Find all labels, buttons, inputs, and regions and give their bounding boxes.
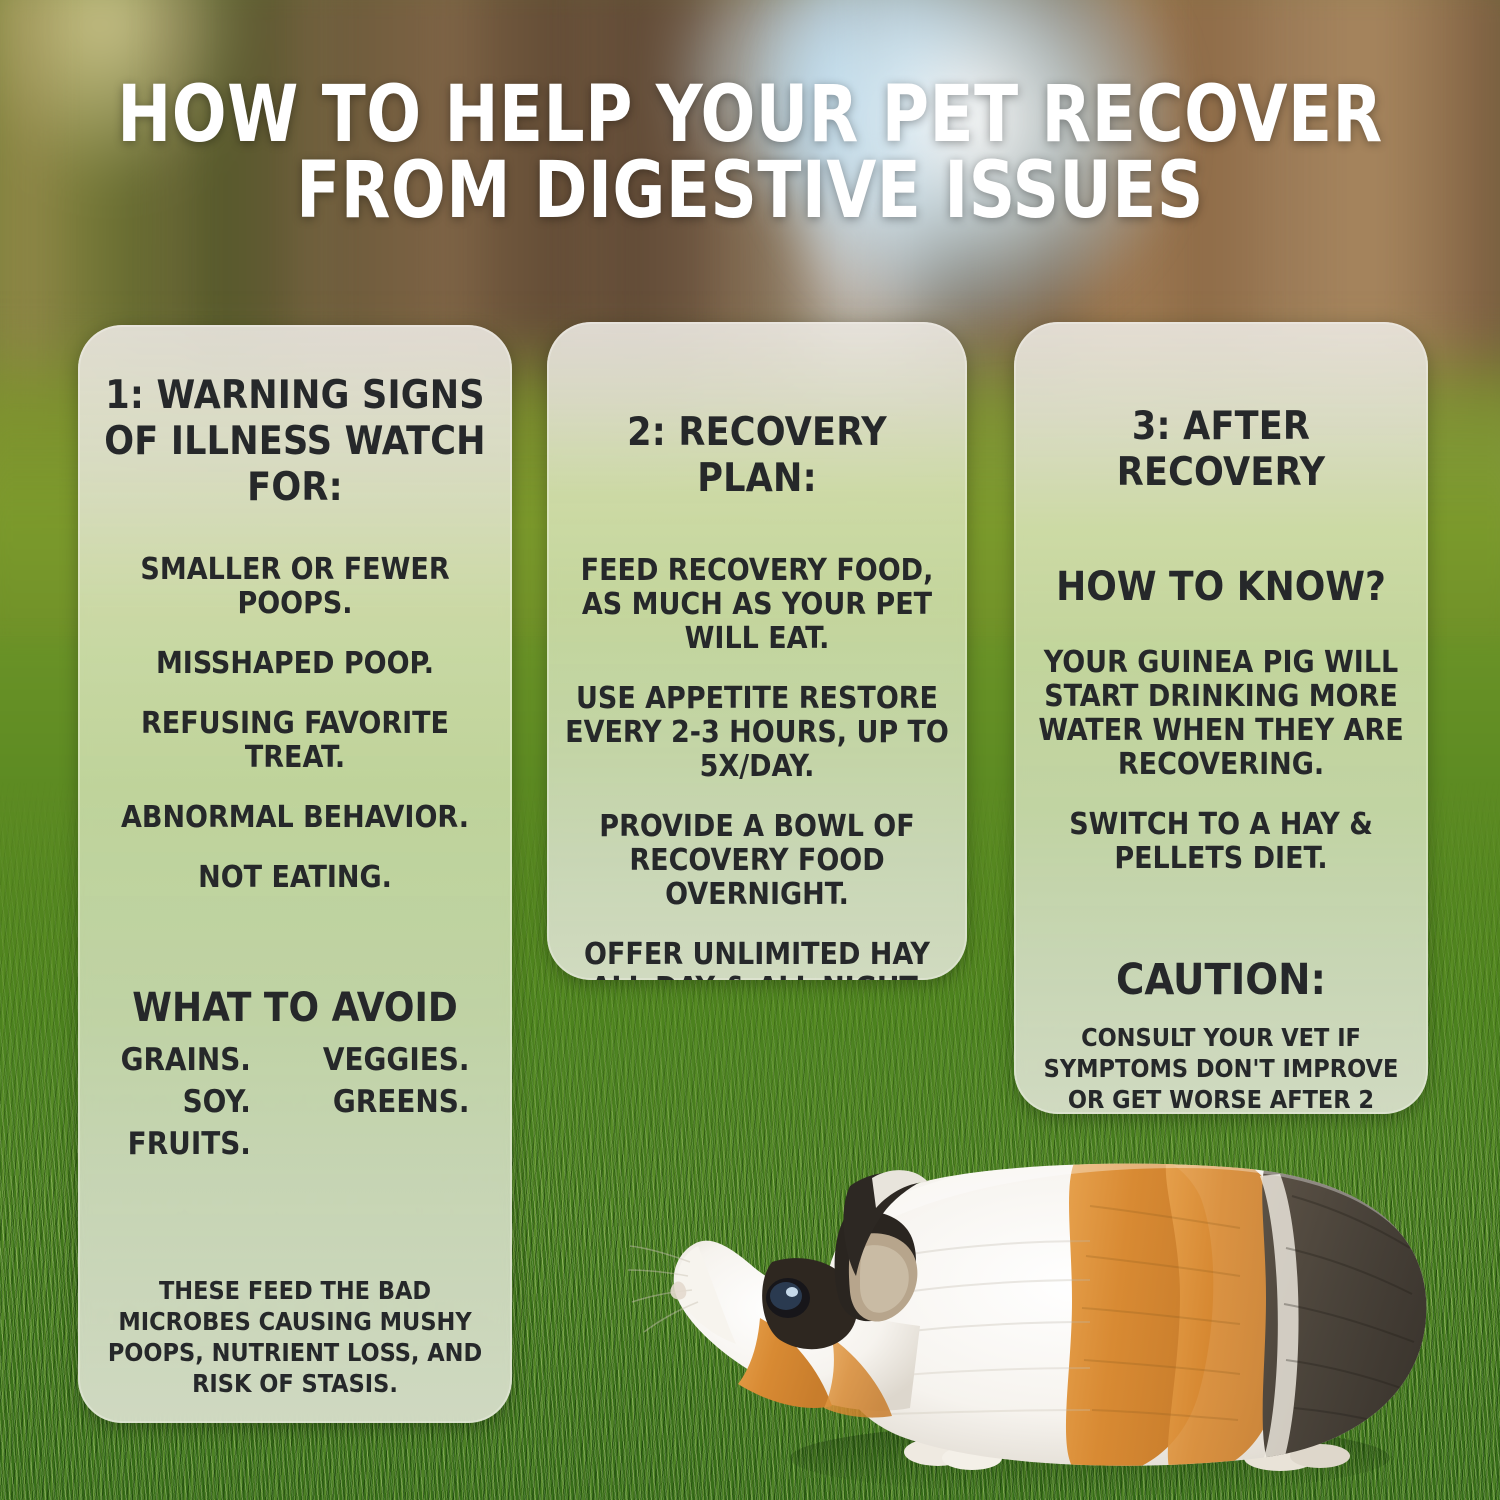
card1-avoid-column-left: GRAINS. SOY. FRUITS. xyxy=(121,1039,251,1165)
page-title: HOW TO HELP YOUR PET RECOVER FROM DIGEST… xyxy=(60,78,1440,229)
pig-eye xyxy=(766,1278,810,1318)
card2-item-3: OFFER UNLIMITED HAY ALL DAY & ALL NIGHT. xyxy=(563,938,951,980)
card-recovery-plan: 2: RECOVERY PLAN: FEED RECOVERY FOOD, AS… xyxy=(547,322,967,980)
card1-item-3: ABNORMAL BEHAVIOR. xyxy=(94,801,496,835)
page-title-line-2: FROM DIGESTIVE ISSUES xyxy=(60,154,1440,230)
card3-heading: 3: AFTER RECOVERY xyxy=(1030,404,1412,496)
card1-item-0: SMALLER OR FEWER POOPS. xyxy=(94,553,496,621)
pig-body xyxy=(825,1146,1438,1478)
pig-head xyxy=(628,1170,928,1417)
card1-heading: 1: WARNING SIGNS OF ILLNESS WATCH FOR: xyxy=(94,373,496,511)
card1-avoid-item-soy: SOY. xyxy=(121,1081,251,1123)
card1-footnote: THESE FEED THE BAD MICROBES CAUSING MUSH… xyxy=(94,1275,496,1399)
card1-avoid-item-fruits: FRUITS. xyxy=(121,1123,251,1165)
card1-avoid-item-veggies: VEGGIES. xyxy=(323,1039,470,1081)
card-warning-signs: 1: WARNING SIGNS OF ILLNESS WATCH FOR: S… xyxy=(78,325,512,1423)
card-after-recovery: 3: AFTER RECOVERY HOW TO KNOW? YOUR GUIN… xyxy=(1014,322,1428,1114)
card1-item-4: NOT EATING. xyxy=(94,861,496,895)
card3-item-1: SWITCH TO A HAY & PELLETS DIET. xyxy=(1030,808,1412,876)
card1-avoid-columns: GRAINS. SOY. FRUITS. VEGGIES. GREENS. xyxy=(94,1039,496,1165)
card1-avoid-item-grains: GRAINS. xyxy=(121,1039,251,1081)
card2-heading: 2: RECOVERY PLAN: xyxy=(563,410,951,502)
card2-item-1: USE APPETITE RESTORE EVERY 2-3 HOURS, UP… xyxy=(563,682,951,784)
card1-avoid-item-greens: GREENS. xyxy=(323,1081,470,1123)
card3-caution-heading: CAUTION: xyxy=(1030,956,1412,1004)
card3-item-0: YOUR GUINEA PIG WILL START DRINKING MORE… xyxy=(1030,646,1412,782)
card3-subheading: HOW TO KNOW? xyxy=(1030,564,1412,610)
card2-item-0: FEED RECOVERY FOOD, AS MUCH AS YOUR PET … xyxy=(563,554,951,656)
card1-item-2: REFUSING FAVORITE TREAT. xyxy=(94,707,496,775)
card1-avoid-column-right: VEGGIES. GREENS. xyxy=(323,1039,470,1165)
card2-item-2: PROVIDE A BOWL OF RECOVERY FOOD OVERNIGH… xyxy=(563,810,951,912)
guinea-pig-photo xyxy=(620,1086,1450,1500)
card1-item-1: MISSHAPED POOP. xyxy=(94,647,496,681)
card1-avoid-heading: WHAT TO AVOID xyxy=(94,985,496,1031)
